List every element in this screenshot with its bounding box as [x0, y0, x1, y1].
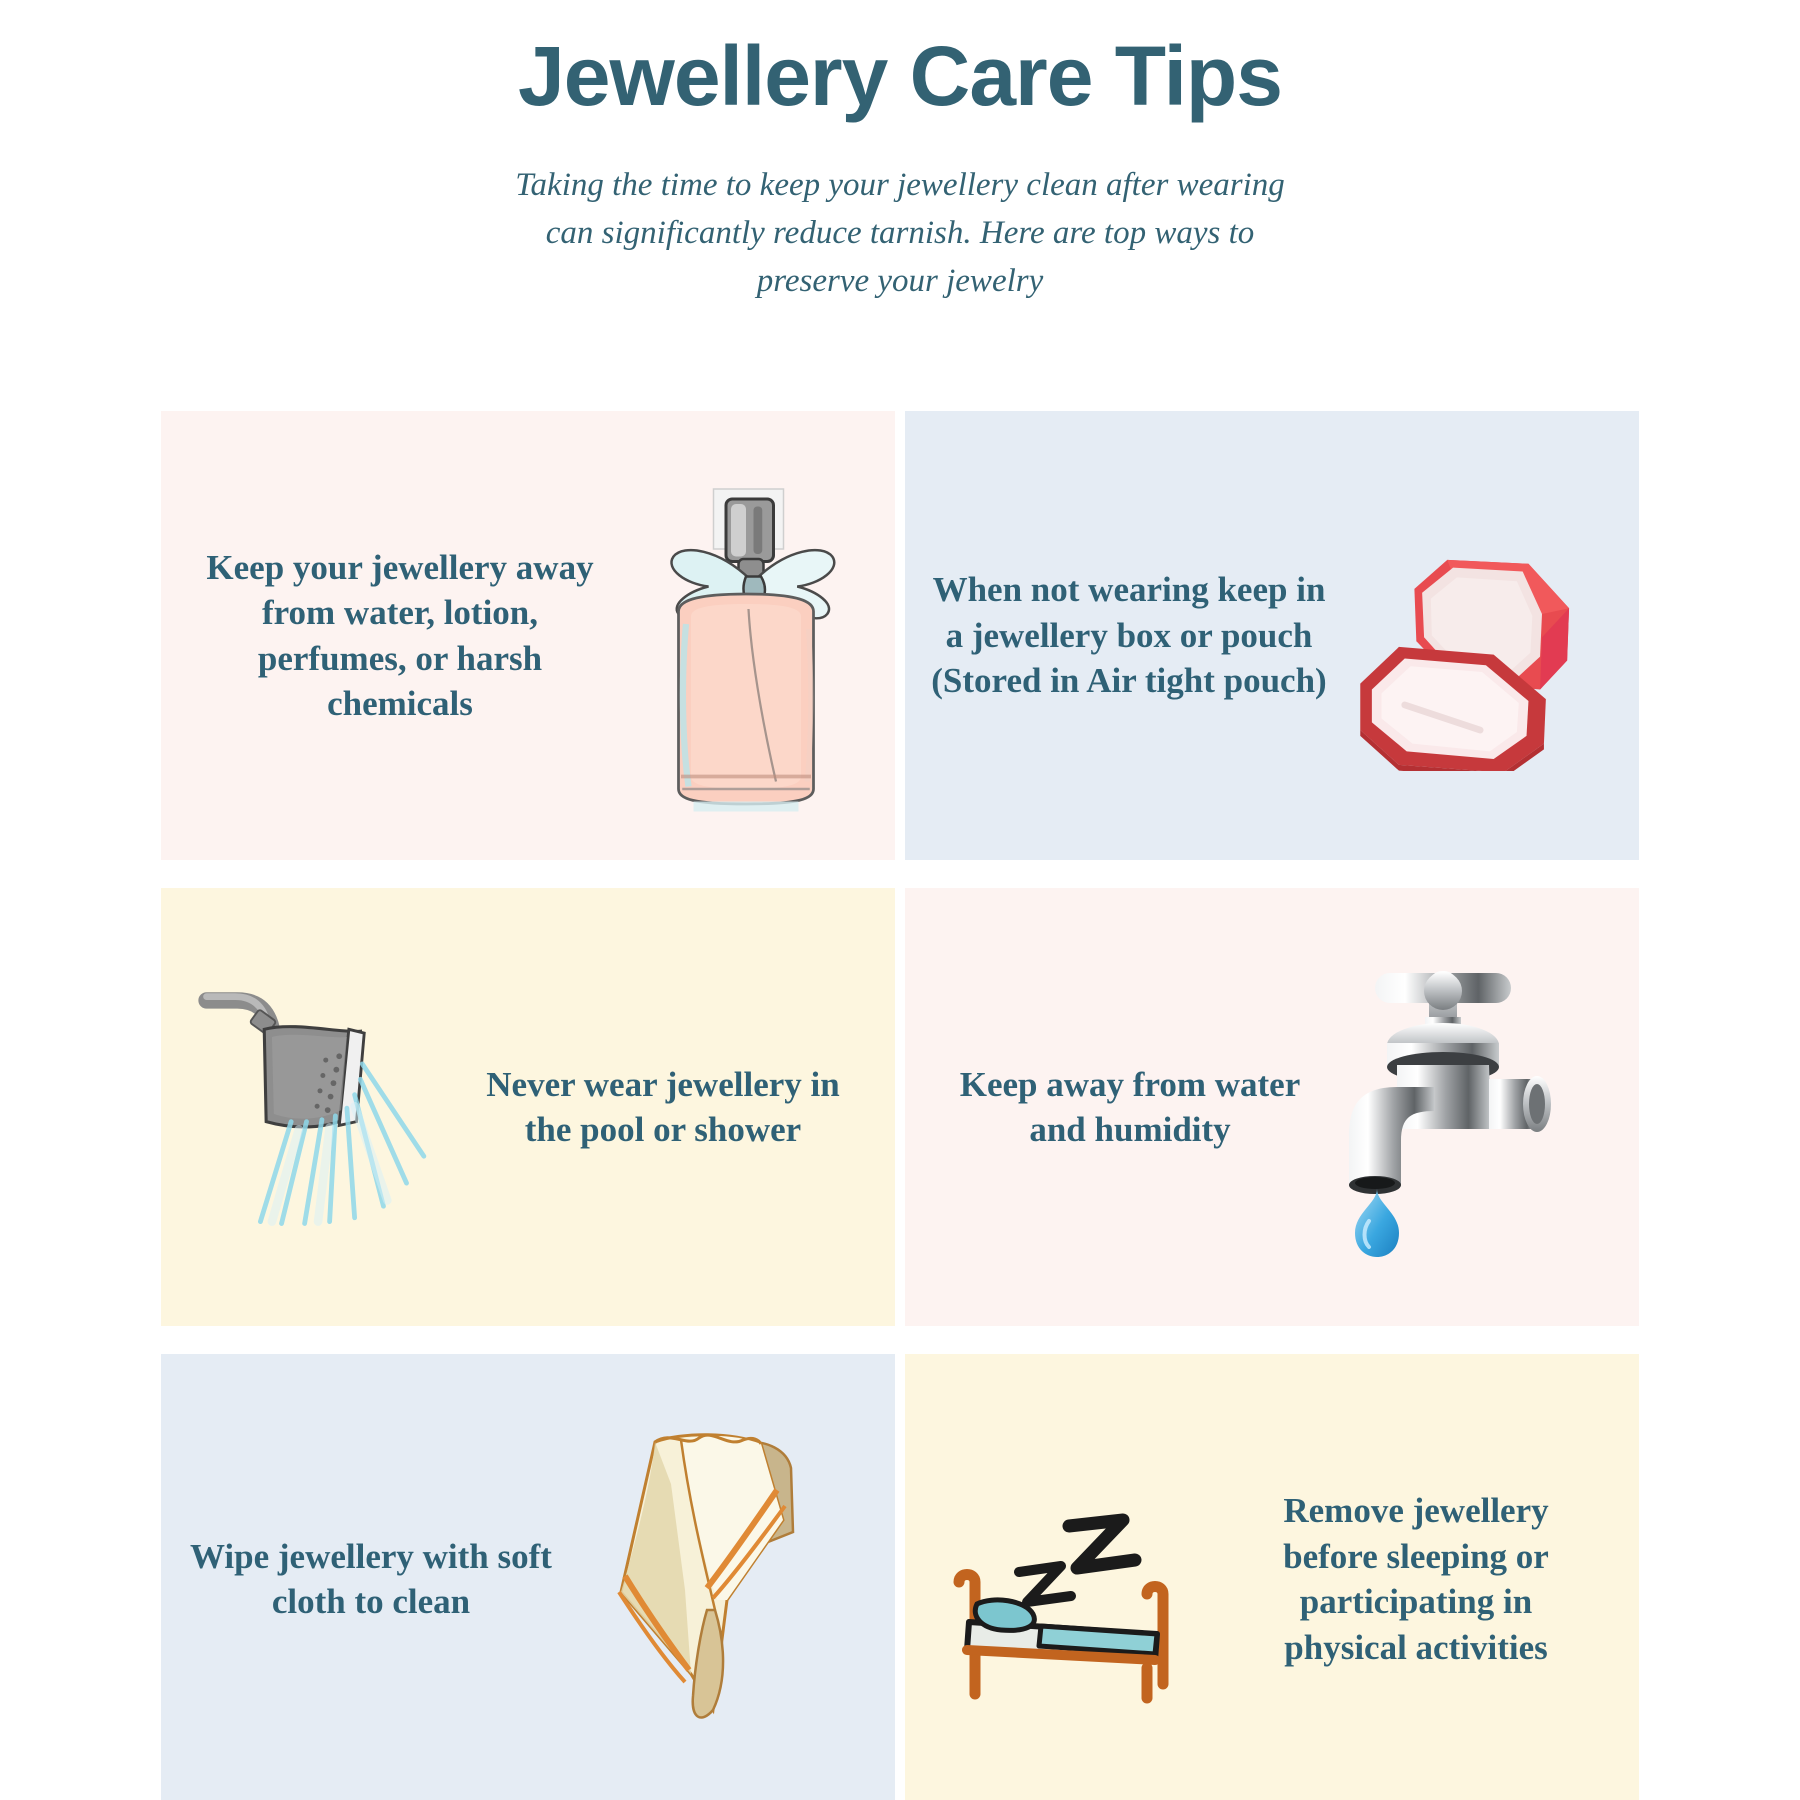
- shower-head-icon: [195, 987, 445, 1227]
- perfume-bottle-icon: [621, 454, 871, 817]
- page-subtitle: Taking the time to keep your jewellery c…: [505, 161, 1295, 306]
- tip-text: Wipe jewellery with soft cloth to clean: [181, 1534, 561, 1625]
- tip-card-humidity: Keep away from water and humidity: [905, 888, 1639, 1326]
- tip-card-storage: When not wearing keep in a jewellery box…: [905, 411, 1639, 860]
- cloth-icon: [595, 1424, 825, 1734]
- tips-grid: Keep your jewellery away from water, lot…: [161, 411, 1639, 1800]
- page-title: Jewellery Care Tips: [0, 28, 1800, 125]
- infographic-page: Jewellery Care Tips Taking the time to k…: [0, 0, 1800, 1800]
- tip-text: When not wearing keep in a jewellery box…: [929, 567, 1329, 704]
- faucet-icon: [1339, 957, 1589, 1257]
- ring-box-icon: [1339, 500, 1629, 771]
- bed-sleep-icon: [941, 1454, 1241, 1704]
- tip-text: Never wear jewellery in the pool or show…: [473, 1062, 853, 1153]
- header: Jewellery Care Tips Taking the time to k…: [0, 0, 1800, 305]
- tip-card-chemicals: Keep your jewellery away from water, lot…: [161, 411, 895, 860]
- tip-card-wipe-clean: Wipe jewellery with soft cloth to clean: [161, 1354, 895, 1800]
- tip-card-sleeping-activity: Remove jewellery before sleeping or part…: [905, 1354, 1639, 1800]
- tip-text: Keep away from water and humidity: [945, 1062, 1315, 1153]
- tip-card-pool-shower: Never wear jewellery in the pool or show…: [161, 888, 895, 1326]
- tip-text: Keep your jewellery away from water, lot…: [185, 545, 615, 727]
- tip-text: Remove jewellery before sleeping or part…: [1251, 1488, 1581, 1670]
